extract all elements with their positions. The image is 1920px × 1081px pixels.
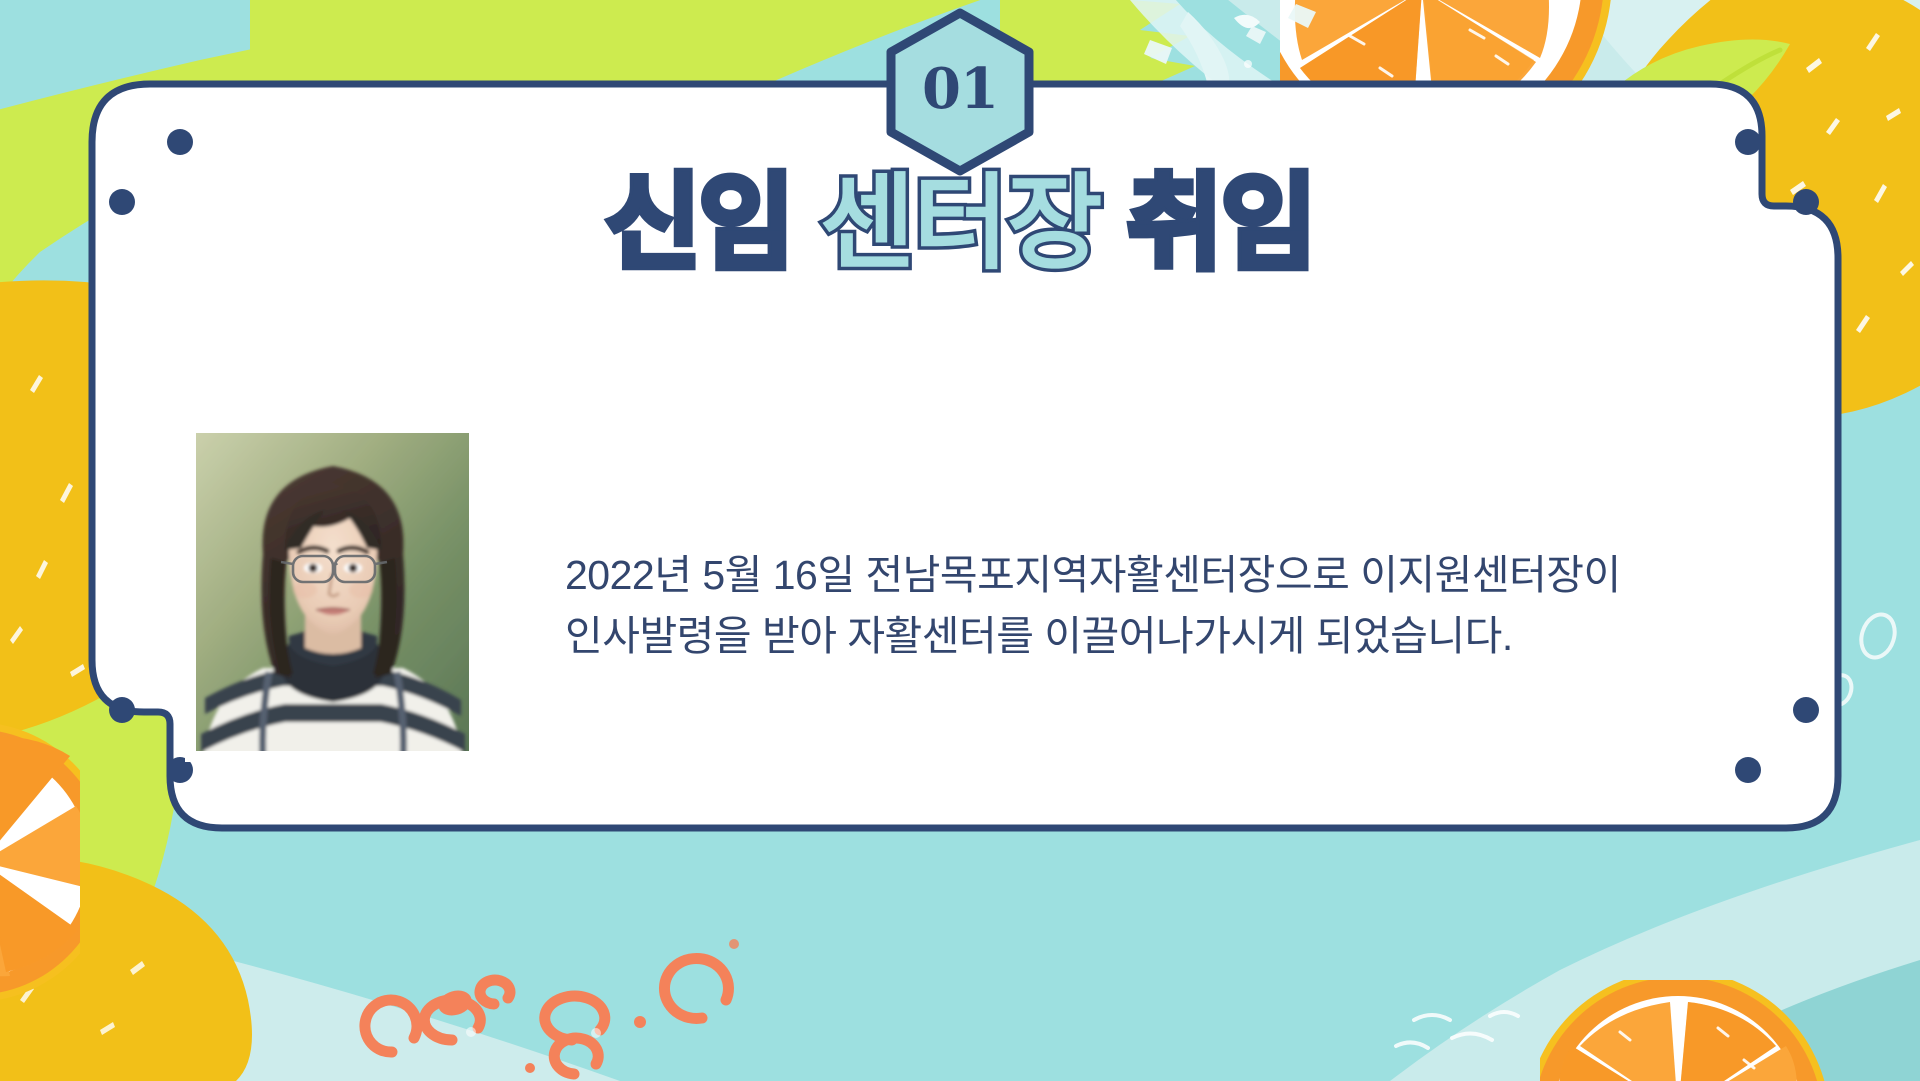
- badge-number-label: 01: [884, 8, 1036, 176]
- corner-dot-bottom-left-inner: [109, 697, 135, 723]
- corner-dot-bottom-right-outer: [1735, 757, 1761, 783]
- title-part-1: 신임: [605, 166, 819, 282]
- corner-dot-top-right-outer: [1735, 129, 1761, 155]
- page-title: 신임 센터장 취임: [0, 168, 1920, 280]
- coral-dots: [435, 987, 646, 1073]
- body-line-2: 인사발령을 받아 자활센터를 이끌어나가시게 되었습니다.: [565, 606, 1825, 667]
- white-scribbles-bottom-right: [1396, 1012, 1518, 1048]
- orange-slice-bottom-right: [1526, 970, 1830, 1081]
- slide-canvas: 01 신임 센터장 취임: [0, 0, 1920, 1081]
- coral-bubbles: [365, 958, 729, 1074]
- portrait-photo: [185, 422, 480, 762]
- corner-dot-top-left-outer: [167, 129, 193, 155]
- title-part-highlight: 센터장: [819, 166, 1100, 282]
- body-paragraph: 2022년 5월 16일 전남목포지역자활센터장으로 이지원센터장이 인사발령을…: [565, 545, 1825, 666]
- corner-dot-bottom-right-inner: [1793, 697, 1819, 723]
- white-bubble-highlights: [466, 1027, 601, 1038]
- orange-speck-above-card: [729, 939, 739, 949]
- title-part-3: 취임: [1101, 166, 1315, 282]
- section-number-badge: 01: [884, 8, 1036, 176]
- lemon-bottom-left: [0, 856, 252, 1081]
- teal-wash-bottom-left: [0, 920, 620, 1081]
- teal-wash-bottom-right: [1390, 840, 1920, 1081]
- body-line-1: 2022년 5월 16일 전남목포지역자활센터장으로 이지원센터장이: [565, 545, 1825, 606]
